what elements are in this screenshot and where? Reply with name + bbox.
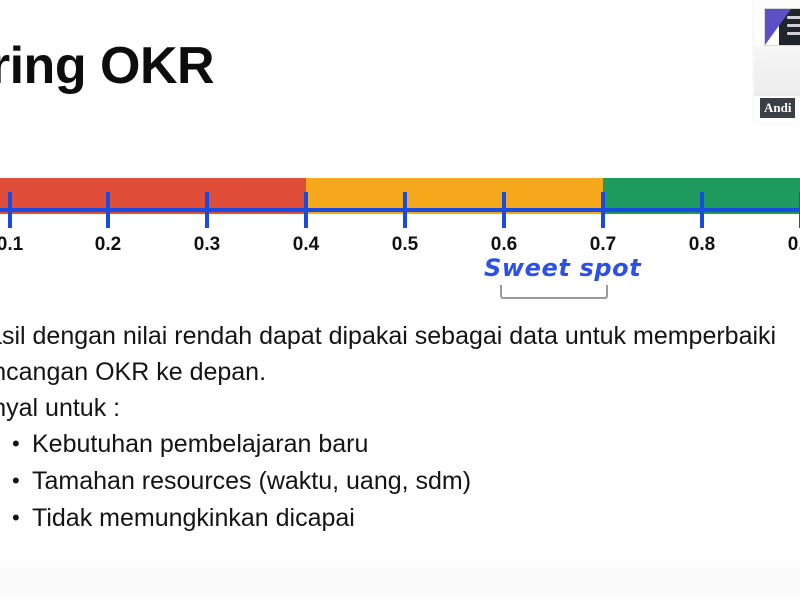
- axis-label-0-7: 0.7: [590, 234, 616, 256]
- thumbnail-corner-accent: [765, 9, 791, 45]
- axis-tick-0-6: [502, 192, 506, 228]
- axis-label-0-2: 0.2: [95, 234, 121, 256]
- slide-thumbnail-icon: [764, 8, 800, 46]
- page-title: Scoring OKR: [0, 38, 214, 95]
- axis-label-0-4: 0.4: [293, 234, 319, 256]
- axis-label-0-9: 0.9: [788, 234, 800, 256]
- list-item: Kebutuhan pembelajaran baru: [0, 426, 471, 463]
- paragraph-line-1: Hasil dengan nilai rendah dapat dipakai …: [0, 318, 800, 354]
- list-item: Tidak memungkinkan dicapai: [0, 500, 471, 537]
- axis-tick-0-3: [205, 192, 209, 228]
- slide-canvas: Scoring OKR Sweet spot 0.1 0.2 0.3 0.4 0…: [0, 0, 800, 600]
- okr-scoring-scale: Sweet spot 0.1 0.2 0.3 0.4 0.5 0.6 0.7 0…: [0, 120, 800, 270]
- bottom-gradient-strip: [0, 558, 800, 600]
- thumbnail-text-line: [787, 24, 800, 27]
- axis-label-0-8: 0.8: [689, 234, 715, 256]
- thumbnail-text-line: [787, 16, 800, 19]
- axis-tick-0-4: [304, 192, 308, 228]
- signal-intro-line: Sinyal untuk :: [0, 390, 800, 426]
- axis-tick-0-2: [106, 192, 110, 228]
- list-item: Tamahan resources (waktu, uang, sdm): [0, 463, 471, 500]
- thumbnail-text-line: [787, 32, 800, 35]
- axis-label-0-6: 0.6: [491, 234, 517, 256]
- paragraph-line-2: rancangan OKR ke depan.: [0, 354, 800, 390]
- axis-line: [0, 208, 800, 212]
- presenter-name-badge: Andi: [760, 98, 795, 118]
- axis-tick-0-1: [8, 192, 12, 228]
- sweet-spot-label: Sweet spot: [484, 254, 641, 282]
- axis-tick-0-5: [403, 192, 407, 228]
- presenter-video-frame: [754, 46, 800, 96]
- axis-tick-0-7: [601, 192, 605, 228]
- body-paragraph: Hasil dengan nilai rendah dapat dipakai …: [0, 318, 800, 426]
- axis-label-0-3: 0.3: [194, 234, 220, 256]
- presenter-video-overlay[interactable]: Andi: [754, 0, 800, 124]
- bullet-list: Kebutuhan pembelajaran baru Tamahan reso…: [0, 426, 471, 537]
- axis-label-0-1: 0.1: [0, 234, 23, 256]
- axis-label-0-5: 0.5: [392, 234, 418, 256]
- axis-tick-0-8: [700, 192, 704, 228]
- sweet-spot-bracket: [500, 285, 608, 299]
